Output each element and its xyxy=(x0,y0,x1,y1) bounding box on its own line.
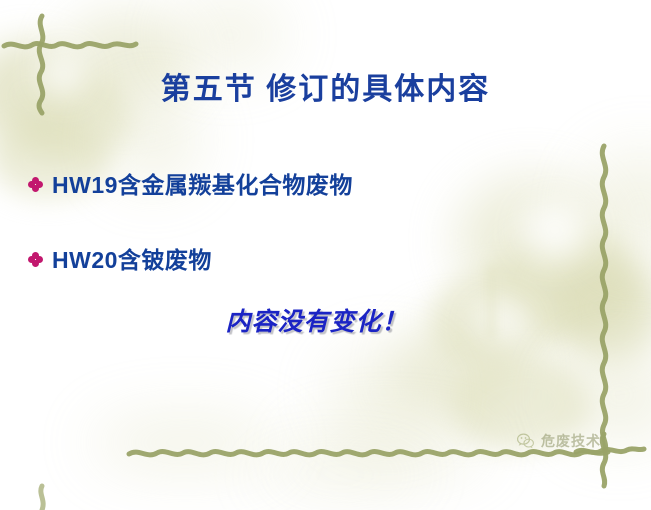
wechat-icon xyxy=(516,432,535,451)
diamond-bullet-icon xyxy=(28,177,43,192)
watermark-label: 危废技术 xyxy=(541,431,601,451)
watermark-badge: 危废技术 xyxy=(516,431,601,451)
presentation-slide: 第五节 修订的具体内容 HW19含金属羰基化合物废物 HW20含铍废物 内容没有… xyxy=(0,0,651,510)
ornament-bottom-horizontal-wave xyxy=(126,440,616,466)
bullet-item-label: HW19含金属羰基化合物废物 xyxy=(52,166,353,200)
bullet-item-label: HW20含铍废物 xyxy=(52,241,212,275)
ornament-right-vertical-wave xyxy=(588,144,628,456)
ornament-bottom-left-stroke xyxy=(34,484,54,510)
ornament-bottom-right-cross xyxy=(570,432,650,492)
bullet-item-hw19: HW19含金属羰基化合物废物 xyxy=(28,166,353,200)
bullet-item-hw20: HW20含铍废物 xyxy=(28,241,212,275)
diamond-bullet-icon xyxy=(28,252,43,267)
emphasis-note: 内容没有变化！ xyxy=(0,302,651,338)
slide-title: 第五节 修订的具体内容 xyxy=(0,64,651,108)
